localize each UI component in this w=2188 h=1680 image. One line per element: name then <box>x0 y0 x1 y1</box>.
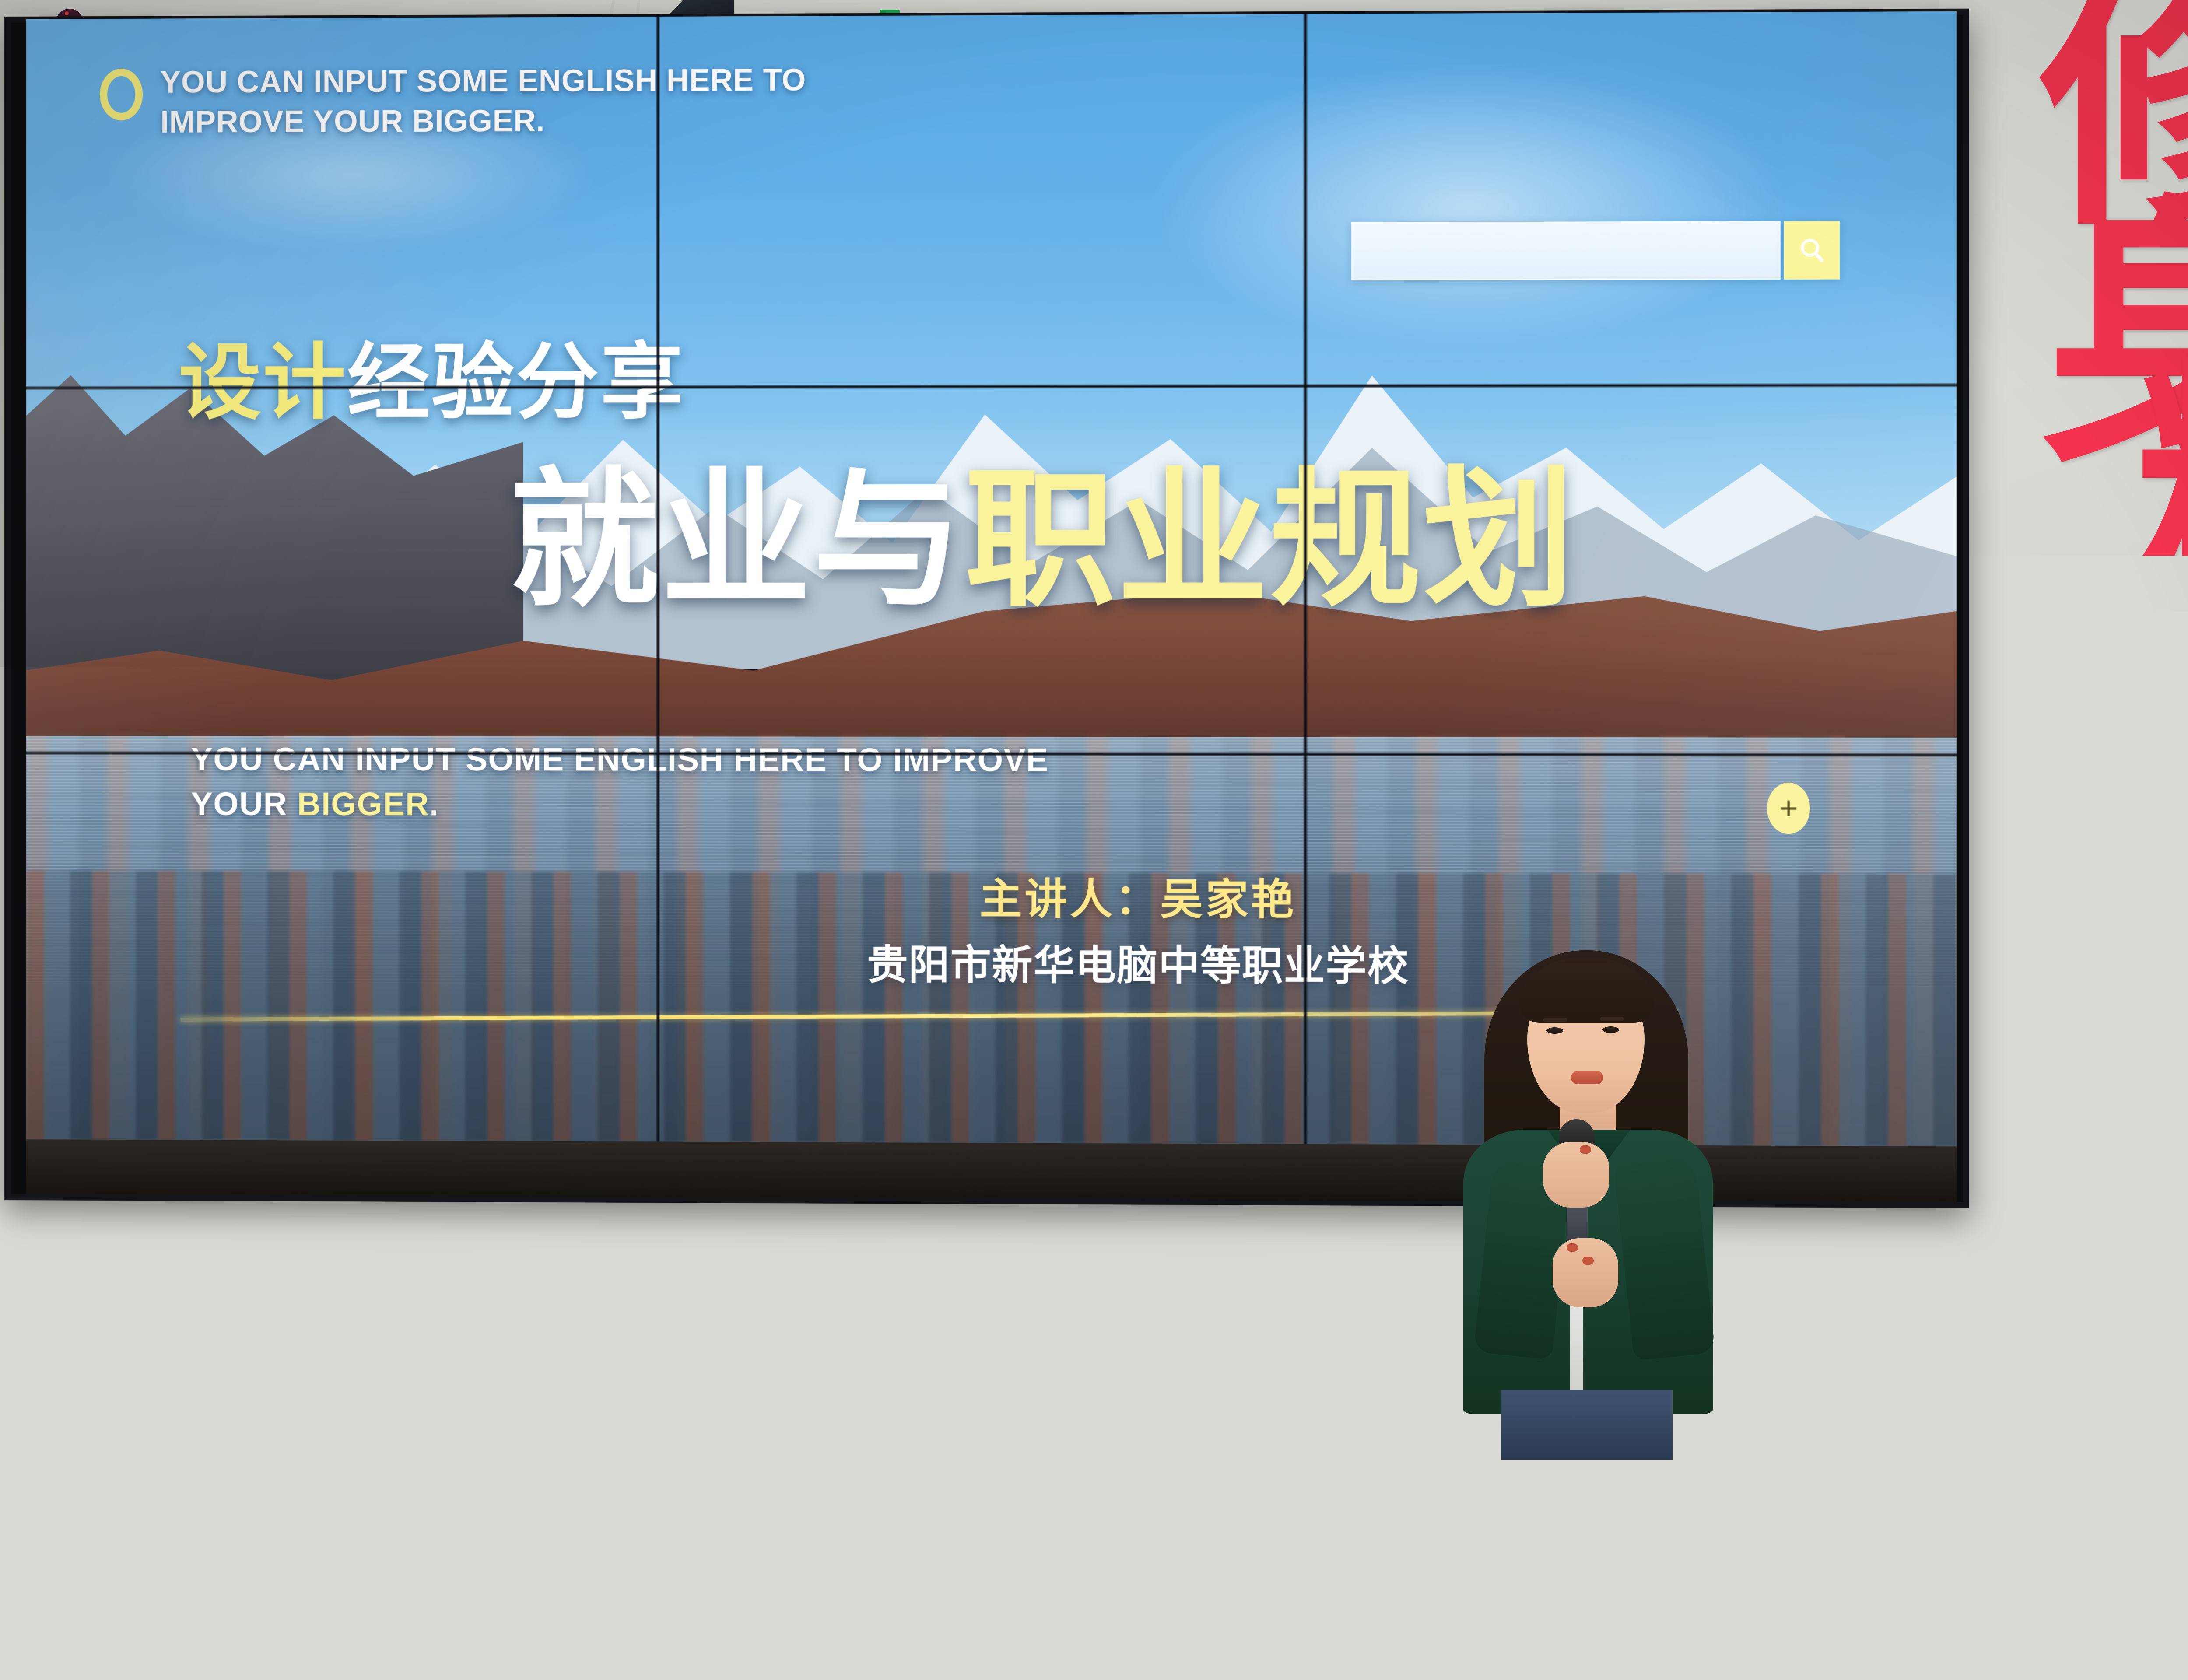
search-button[interactable] <box>1784 221 1840 280</box>
presenter-mouth <box>1571 1071 1603 1084</box>
search-icon <box>1797 235 1827 265</box>
presenter-brow-right <box>1600 1017 1624 1021</box>
slide-kicker-highlight: 设计 <box>179 335 347 431</box>
slide-speaker-name: 主讲人：吴家艳 <box>783 864 1494 927</box>
slide-sky-haze <box>1140 57 1800 353</box>
slide-header-text: YOU CAN INPUT SOME ENGLISH HERE TO IMPRO… <box>160 60 806 142</box>
plant-leaf <box>2139 992 2188 1119</box>
slide-title: 就业与职业规划 <box>509 465 1576 615</box>
presenter-nail-1 <box>1580 1145 1591 1154</box>
panel-seam-vertical-1 <box>656 17 660 1142</box>
slide-sub-english-line1: YOU CAN INPUT SOME ENGLISH HERE TO IMPRO… <box>191 741 1048 778</box>
search-input[interactable] <box>1351 221 1781 280</box>
panel-seam-vertical-2 <box>1303 14 1308 1144</box>
yellow-ring-logo-icon <box>100 69 143 120</box>
slide-title-white: 就业与 <box>509 453 965 628</box>
plus-button[interactable]: + <box>1767 783 1810 834</box>
presenter-brow-left <box>1543 1018 1567 1022</box>
plant-leaf <box>2180 911 2188 1036</box>
lecture-hall-photo: 修身 精 <box>0 0 2188 1680</box>
slide-sub-english-prefix: YOUR <box>191 786 297 822</box>
slide-sub-english-suffix: . <box>429 786 439 822</box>
slide-kicker: 设计经验分享 <box>179 341 685 424</box>
audience <box>0 1181 2188 1680</box>
wall-lettering-line-2: 精 <box>2135 381 2188 616</box>
slide-sub-english-highlight: BIGGER <box>297 786 429 822</box>
slide-kicker-rest: 经验分享 <box>347 334 685 430</box>
presenter-eye-left <box>1546 1027 1563 1034</box>
slide-speaker-organization: 贵阳市新华电脑中等职业学校 <box>783 932 1494 992</box>
slide-sub-english: YOU CAN INPUT SOME ENGLISH HERE TO IMPRO… <box>191 737 1048 827</box>
dome-sensor-led-icon <box>65 11 69 15</box>
presenter-eye-right <box>1602 1026 1619 1033</box>
slide-title-yellow: 职业规划 <box>964 452 1576 627</box>
